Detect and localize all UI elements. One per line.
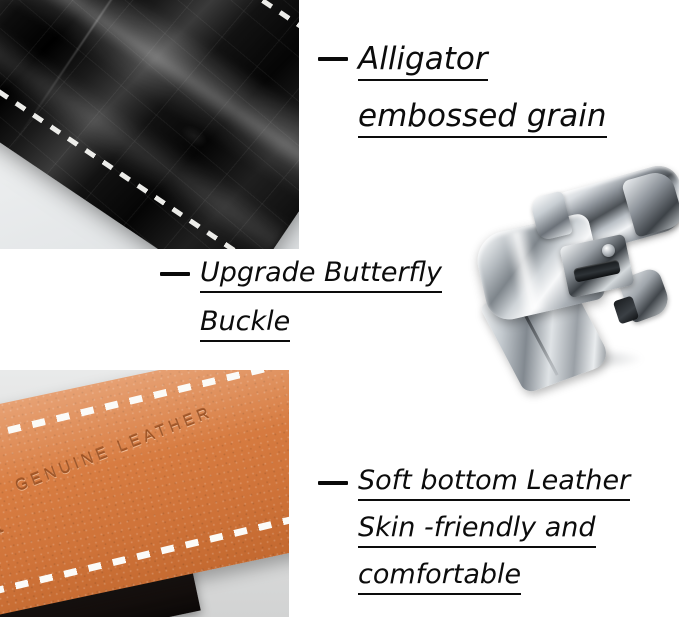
tan-leather-strap: GENUINE LEATHER R: [0, 370, 289, 617]
dash-marker-icon: [318, 481, 348, 485]
callout-line: Soft bottom Leather: [358, 464, 630, 501]
callout-leather: Soft bottom Leather Skin -friendly and c…: [318, 464, 630, 605]
butterfly-clasp: [478, 172, 679, 394]
callout-text-block: Alligator embossed grain: [358, 40, 607, 154]
callout-line: Upgrade Butterfly: [200, 256, 442, 293]
dash-marker-icon: [160, 272, 190, 276]
dash-marker-icon: [318, 57, 348, 61]
callout-buckle: Upgrade Butterfly Buckle: [160, 256, 442, 354]
callout-text-block: Upgrade Butterfly Buckle: [200, 256, 442, 354]
callout-text-block: Soft bottom Leather Skin -friendly and c…: [358, 464, 630, 605]
butterfly-clasp-photo: [478, 172, 679, 394]
genuine-leather-photo: GENUINE LEATHER R: [0, 370, 289, 617]
callout-line: embossed grain: [358, 97, 607, 138]
callout-alligator: Alligator embossed grain: [318, 40, 607, 154]
callout-line: Alligator: [358, 40, 488, 81]
callout-line: comfortable: [358, 558, 521, 595]
callout-line: Buckle: [200, 305, 290, 342]
callout-line: Skin -friendly and: [358, 511, 596, 548]
clasp-pivot-pin: [602, 244, 615, 257]
alligator-strap-photo: [0, 0, 299, 249]
feature-collage-page: GENUINE LEATHER R Alligator embossed gra…: [0, 0, 679, 617]
